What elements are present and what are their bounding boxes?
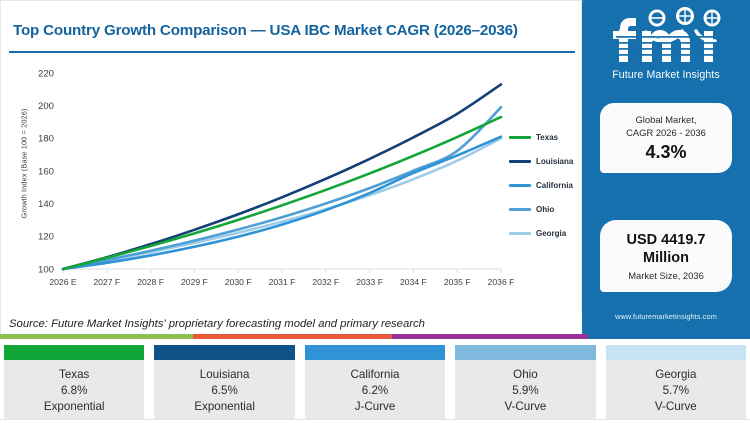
- website-url[interactable]: www.futuremarketinsights.com: [582, 312, 750, 321]
- card-shape-label: J-Curve: [355, 400, 396, 413]
- legend-swatch-icon: [509, 232, 531, 235]
- cagr-card-value: 4.3%: [645, 142, 686, 163]
- card-color-bar: [606, 345, 746, 360]
- country-card-texas[interactable]: Texas6.8%Exponential: [3, 344, 145, 423]
- x-axis-tick-label: 2036 F: [488, 277, 515, 287]
- card-country-name: Ohio: [513, 368, 538, 381]
- x-axis-tick-label: 2030 F: [225, 277, 252, 287]
- fmi-logo-icon: [600, 6, 732, 68]
- source-note: Source: Future Market Insights' propriet…: [1, 312, 583, 335]
- logo-tagline: Future Market Insights: [612, 69, 720, 81]
- card-color-bar: [154, 345, 294, 360]
- x-axis-tick-label: 2034 F: [400, 277, 427, 287]
- series-line-california[interactable]: [63, 137, 501, 269]
- country-card-row: Texas6.8%ExponentialLouisiana6.5%Exponen…: [0, 344, 750, 423]
- legend-swatch-icon: [509, 136, 531, 139]
- bottom-edge: [0, 419, 750, 423]
- line-chart: Growth Index (Base 100 = 2026) 100120140…: [1, 55, 583, 311]
- legend-swatch-icon: [509, 208, 531, 211]
- chart-legend: TexasLouisianaCaliforniaOhioGeorgia: [509, 133, 573, 238]
- chart-canvas: 1001201401601802002202026 E2027 F2028 F2…: [1, 55, 583, 311]
- cagr-card-line2: CAGR 2026 - 2036: [626, 126, 706, 139]
- page-title: Top Country Growth Comparison — USA IBC …: [13, 22, 518, 39]
- x-axis-tick-label: 2035 F: [444, 277, 471, 287]
- legend-item-california[interactable]: California: [509, 181, 573, 190]
- market-size-stat-card: USD 4419.7 Million Market Size, 2036: [600, 220, 732, 292]
- country-card-louisiana[interactable]: Louisiana6.5%Exponential: [153, 344, 295, 423]
- x-axis-tick-label: 2027 F: [93, 277, 120, 287]
- legend-label: Texas: [536, 133, 558, 142]
- card-body: Ohio5.9%V-Curve: [455, 360, 595, 422]
- market-size-line1: USD 4419.7: [627, 231, 706, 249]
- series-line-texas[interactable]: [63, 117, 501, 269]
- title-divider: [9, 51, 575, 53]
- card-cagr-value: 6.2%: [362, 384, 388, 397]
- x-axis-tick-label: 2033 F: [356, 277, 383, 287]
- legend-label: Georgia: [536, 229, 566, 238]
- market-size-line2: Million: [643, 249, 689, 267]
- card-cagr-value: 5.9%: [512, 384, 538, 397]
- y-axis-tick-label: 180: [38, 134, 54, 145]
- y-axis-tick-label: 220: [38, 68, 54, 79]
- legend-item-ohio[interactable]: Ohio: [509, 205, 573, 214]
- y-axis-label: Growth Index (Base 100 = 2026): [20, 89, 29, 239]
- accent-segment-blue: [588, 334, 750, 339]
- y-axis-tick-label: 100: [38, 264, 54, 275]
- accent-segment-green: [0, 334, 193, 339]
- card-cagr-value: 6.8%: [61, 384, 87, 397]
- legend-swatch-icon: [509, 160, 531, 163]
- card-body: Louisiana6.5%Exponential: [154, 360, 294, 422]
- y-axis-tick-label: 140: [38, 199, 54, 210]
- card-shape-label: Exponential: [194, 400, 255, 413]
- legend-item-georgia[interactable]: Georgia: [509, 229, 573, 238]
- cagr-stat-card: Global Market, CAGR 2026 - 2036 4.3%: [600, 103, 732, 173]
- card-color-bar: [4, 345, 144, 360]
- x-axis-tick-label: 2032 F: [312, 277, 339, 287]
- chart-panel: Top Country Growth Comparison — USA IBC …: [0, 0, 582, 334]
- card-body: Texas6.8%Exponential: [4, 360, 144, 422]
- y-axis-tick-label: 120: [38, 232, 54, 243]
- x-axis-tick-label: 2028 F: [137, 277, 164, 287]
- series-line-ohio[interactable]: [63, 107, 501, 269]
- market-size-caption: Market Size, 2036: [628, 270, 704, 281]
- accent-stripe: [0, 334, 750, 339]
- y-axis-tick-label: 200: [38, 101, 54, 112]
- chart-title-bar: Top Country Growth Comparison — USA IBC …: [1, 9, 583, 51]
- series-line-louisiana[interactable]: [63, 84, 501, 269]
- legend-label: Louisiana: [536, 157, 573, 166]
- card-color-bar: [455, 345, 595, 360]
- y-axis-tick-label: 160: [38, 166, 54, 177]
- card-country-name: California: [351, 368, 400, 381]
- accent-segment-purple: [392, 334, 588, 339]
- series-line-georgia[interactable]: [63, 138, 501, 269]
- card-shape-label: V-Curve: [655, 400, 697, 413]
- card-country-name: Texas: [59, 368, 89, 381]
- x-axis-tick-label: 2029 F: [181, 277, 208, 287]
- legend-label: California: [536, 181, 573, 190]
- infographic-page: Top Country Growth Comparison — USA IBC …: [0, 0, 750, 423]
- source-text: Source: Future Market Insights' propriet…: [9, 318, 425, 330]
- card-shape-label: Exponential: [44, 400, 105, 413]
- card-cagr-value: 5.7%: [663, 384, 689, 397]
- legend-label: Ohio: [536, 205, 554, 214]
- country-card-georgia[interactable]: Georgia5.7%V-Curve: [605, 344, 747, 423]
- card-color-bar: [305, 345, 445, 360]
- accent-segment-orange: [193, 334, 393, 339]
- x-axis-tick-label: 2031 F: [269, 277, 296, 287]
- cagr-card-line1: Global Market,: [636, 113, 697, 126]
- card-body: California6.2%J-Curve: [305, 360, 445, 422]
- country-card-ohio[interactable]: Ohio5.9%V-Curve: [454, 344, 596, 423]
- card-cagr-value: 6.5%: [211, 384, 237, 397]
- card-shape-label: V-Curve: [504, 400, 546, 413]
- card-country-name: Georgia: [655, 368, 696, 381]
- country-card-california[interactable]: California6.2%J-Curve: [304, 344, 446, 423]
- brand-sidebar: Future Market Insights Global Market, CA…: [582, 0, 750, 334]
- legend-item-louisiana[interactable]: Louisiana: [509, 157, 573, 166]
- legend-item-texas[interactable]: Texas: [509, 133, 573, 142]
- card-country-name: Louisiana: [200, 368, 250, 381]
- card-body: Georgia5.7%V-Curve: [606, 360, 746, 422]
- fmi-logo: Future Market Insights: [582, 6, 750, 81]
- x-axis-tick-label: 2026 E: [49, 277, 77, 287]
- legend-swatch-icon: [509, 184, 531, 187]
